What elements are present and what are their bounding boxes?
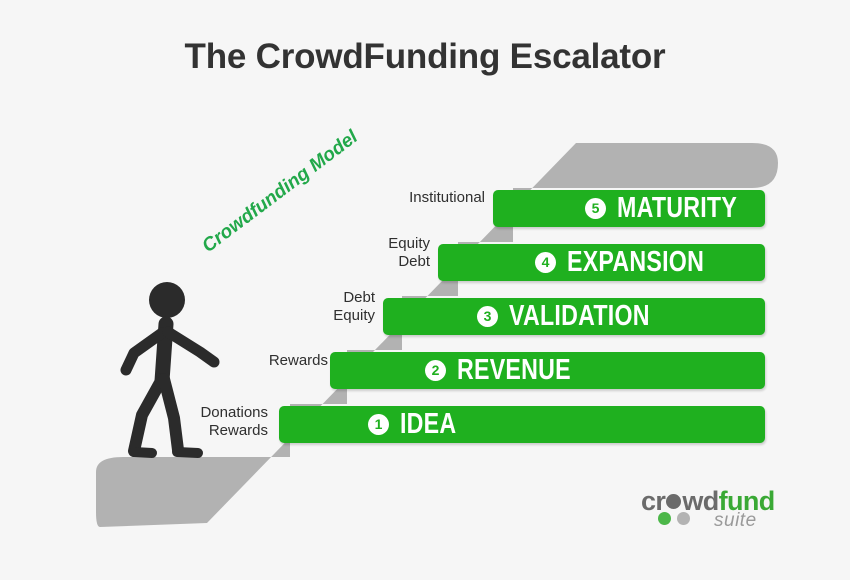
step-title-maturity: MATURITY [617, 192, 737, 225]
step-number-badge-3: 3 [477, 306, 498, 327]
step-number-badge-2: 2 [425, 360, 446, 381]
step-title-revenue: REVENUE [457, 354, 571, 387]
crowdfund-suite-logo[interactable]: crwdfund suite [641, 486, 781, 534]
logo-dot-green-icon [658, 512, 671, 525]
step-bar-revenue[interactable]: 2 REVENUE [330, 352, 765, 389]
step-bar-maturity[interactable]: 5 MATURITY [493, 190, 765, 227]
logo-circle-o-icon [666, 494, 681, 509]
step-source-label-4: Equity Debt [300, 235, 430, 271]
step-source-line2-4: Debt [300, 253, 430, 271]
step-source-line1-3: Debt [245, 289, 375, 307]
step-number-badge-5: 5 [585, 198, 606, 219]
step-number-badge-4: 4 [535, 252, 556, 273]
step-number-badge-1: 1 [368, 414, 389, 435]
step-title-expansion: EXPANSION [567, 246, 704, 279]
logo-tagline: suite [714, 510, 757, 532]
logo-dot-gray-icon [677, 512, 690, 525]
step-source-label-3: Debt Equity [245, 289, 375, 325]
step-source-label-5: Institutional [330, 189, 485, 207]
step-source-line1-4: Equity [300, 235, 430, 253]
step-bar-expansion[interactable]: 4 EXPANSION [438, 244, 765, 281]
infographic-canvas: The CrowdFunding Escalator Crowdfunding … [0, 0, 850, 580]
step-title-idea: IDEA [400, 408, 456, 441]
step-title-validation: VALIDATION [509, 300, 650, 333]
walking-stick-figure-icon [112, 278, 242, 468]
step-bar-idea[interactable]: 1 IDEA [279, 406, 765, 443]
step-bar-validation[interactable]: 3 VALIDATION [383, 298, 765, 335]
step-source-line1-5: Institutional [330, 189, 485, 207]
step-source-line2-3: Equity [245, 307, 375, 325]
